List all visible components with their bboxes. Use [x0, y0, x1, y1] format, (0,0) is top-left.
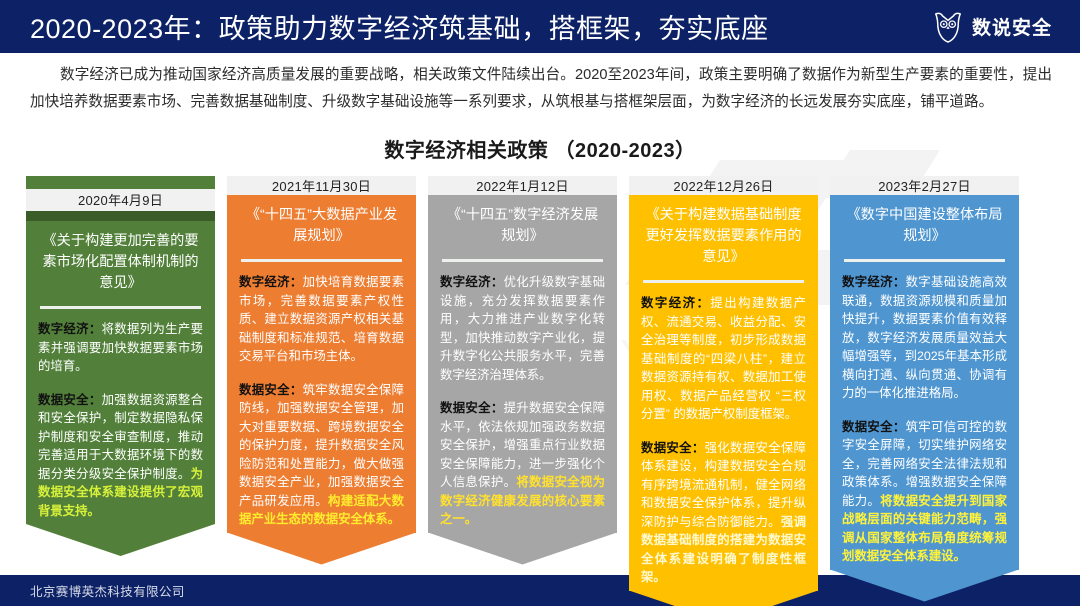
digital-economy-paragraph: 数字经济：加快培育数据要素市场，完善数据要素产权性质、建立数据资源产权相关基础制…	[239, 273, 404, 366]
column-body-inner: 《关于构建数据基础制度更好发挥数据要素作用的意见》数字经济：提出构建数据产权、流…	[629, 195, 818, 591]
column-divider	[643, 280, 804, 283]
column-divider	[442, 259, 603, 262]
column-date-band: 2021年11月30日	[227, 176, 416, 195]
column-body-inner: 《关于构建更加完善的要素市场化配置体制机制的意见》数字经济：将数据列为生产要素并…	[26, 221, 215, 524]
policy-column[interactable]: 2020年4月9日《关于构建更加完善的要素市场化配置体制机制的意见》数字经济：将…	[26, 176, 215, 556]
column-body: 《“十四五”大数据产业发展规划》数字经济：加快培育数据要素市场，完善数据要素产权…	[227, 195, 416, 565]
policy-column[interactable]: 2022年1月12日《“十四五”数字经济发展规划》数字经济：优化升级数字基础设施…	[428, 176, 617, 556]
column-date: 2020年4月9日	[78, 190, 163, 209]
digital-economy-label: 数字经济：	[38, 322, 102, 336]
data-security-text: 筑牢数据安全保障防线，加强数据安全管理，加大对重要数据、跨境数据安全的保护力度，…	[239, 383, 404, 508]
brand-logo: 数说安全	[933, 11, 1064, 43]
data-security-paragraph: 数据安全：筑牢可信可控的数字安全屏障，切实维护网络安全，完善网络安全法律法规和政…	[842, 418, 1007, 566]
header-underline	[0, 53, 1080, 55]
page-title: 2020-2023年：政策助力数字经济筑基础，搭框架，夯实底座	[30, 7, 769, 46]
column-date: 2021年11月30日	[272, 176, 371, 195]
column-divider	[40, 306, 201, 309]
column-arrow-tip	[227, 533, 416, 565]
column-date-band: 2020年4月9日	[26, 189, 215, 212]
policy-column[interactable]: 2023年2月27日《数字中国建设整体布局规划》数字经济：数字基础设施高效联通，…	[830, 176, 1019, 556]
policy-column[interactable]: 2021年11月30日《“十四五”大数据产业发展规划》数字经济：加快培育数据要素…	[227, 176, 416, 556]
policy-title: 《“十四五”数字经济发展规划》	[440, 205, 605, 247]
column-date-band: 2023年2月27日	[830, 176, 1019, 195]
data-security-paragraph: 数据安全：提升数据安全保障水平，依法依规加强政务数据安全保护，增强重点行业数据安…	[440, 399, 605, 529]
digital-economy-paragraph: 数字经济：将数据列为生产要素并强调要加快数据要素市场的培育。	[38, 320, 203, 376]
digital-economy-paragraph: 数字经济：提出构建数据产权、流通交易、收益分配、安全治理等制度，初步形成数据基础…	[641, 294, 806, 424]
data-security-label: 数据安全：	[641, 441, 705, 455]
digital-economy-label: 数字经济：	[842, 275, 906, 289]
data-security-label: 数据安全：	[842, 420, 906, 434]
column-divider	[241, 259, 402, 262]
intro-paragraph: 数字经济已成为推动国家经济高质量发展的重要战略，相关政策文件陆续出台。2020至…	[30, 62, 1052, 116]
data-security-label: 数据安全：	[440, 401, 504, 415]
column-body-inner: 《“十四五”数字经济发展规划》数字经济：优化升级数字基础设施，充分发挥数据要素作…	[428, 195, 617, 533]
column-body: 《关于构建数据基础制度更好发挥数据要素作用的意见》数字经济：提出构建数据产权、流…	[629, 195, 818, 606]
owl-icon	[933, 11, 963, 43]
column-accent-band	[26, 211, 215, 221]
digital-economy-paragraph: 数字经济：优化升级数字基础设施，充分发挥数据要素作用，大力推进产业数字化转型，加…	[440, 273, 605, 384]
data-security-paragraph: 数据安全：强化数据安全保障体系建设，构建数据安全合规有序跨境流通机制，健全网络和…	[641, 439, 806, 587]
digital-economy-label: 数字经济：	[239, 275, 303, 289]
slide-page: Y REVI 2020-2023年：政策助力数字经济筑基础，搭框架，夯实底座 数…	[0, 0, 1080, 606]
policy-title: 《“十四五”大数据产业发展规划》	[239, 205, 404, 247]
digital-economy-text: 优化升级数字基础设施，充分发挥数据要素作用，大力推进产业数字化转型，加快推动数字…	[440, 275, 605, 382]
column-body: 《数字中国建设整体布局规划》数字经济：数字基础设施高效联通，数据资源规模和质量加…	[830, 195, 1019, 602]
column-arrow-tip	[830, 570, 1019, 602]
column-arrow-tip	[26, 524, 215, 556]
digital-economy-label: 数字经济：	[440, 275, 504, 289]
column-body: 《关于构建更加完善的要素市场化配置体制机制的意见》数字经济：将数据列为生产要素并…	[26, 221, 215, 556]
brand-name: 数说安全	[972, 13, 1052, 40]
column-date-band: 2022年1月12日	[428, 176, 617, 195]
digital-economy-paragraph: 数字经济：数字基础设施高效联通，数据资源规模和质量加快提升，数据要素价值有效释放…	[842, 273, 1007, 403]
digital-economy-label: 数字经济：	[641, 296, 710, 310]
data-security-paragraph: 数据安全：筑牢数据安全保障防线，加强数据安全管理，加大对重要数据、跨境数据安全的…	[239, 381, 404, 529]
column-date: 2023年2月27日	[878, 176, 971, 195]
column-top-band	[26, 176, 215, 189]
column-date: 2022年1月12日	[476, 176, 569, 195]
column-divider	[844, 259, 1005, 262]
policy-title: 《关于构建数据基础制度更好发挥数据要素作用的意见》	[641, 205, 806, 268]
data-security-label: 数据安全：	[38, 393, 102, 407]
column-arrow-tip	[629, 591, 818, 606]
data-security-label: 数据安全：	[239, 383, 303, 397]
header-bar: 2020-2023年：政策助力数字经济筑基础，搭框架，夯实底座 数说安全	[0, 0, 1080, 53]
column-body-inner: 《“十四五”大数据产业发展规划》数字经济：加快培育数据要素市场，完善数据要素产权…	[227, 195, 416, 533]
footer-company: 北京赛博英杰科技有限公司	[30, 581, 185, 600]
policy-columns: 2020年4月9日《关于构建更加完善的要素市场化配置体制机制的意见》数字经济：将…	[0, 176, 1080, 556]
digital-economy-text: 提出构建数据产权、流通交易、收益分配、安全治理等制度，初步形成数据基础制度的“四…	[641, 296, 806, 421]
column-body: 《“十四五”数字经济发展规划》数字经济：优化升级数字基础设施，充分发挥数据要素作…	[428, 195, 617, 565]
data-security-paragraph: 数据安全：加强数据资源整合和安全保护，制定数据隐私保护制度和安全审查制度，推动完…	[38, 391, 203, 521]
policy-title: 《数字中国建设整体布局规划》	[842, 205, 1007, 247]
section-title: 数字经济相关政策 （2020-2023）	[0, 134, 1080, 163]
column-body-inner: 《数字中国建设整体布局规划》数字经济：数字基础设施高效联通，数据资源规模和质量加…	[830, 195, 1019, 570]
column-arrow-tip	[428, 533, 617, 565]
column-date: 2022年12月26日	[673, 176, 773, 195]
policy-title: 《关于构建更加完善的要素市场化配置体制机制的意见》	[38, 231, 203, 294]
digital-economy-text: 数字基础设施高效联通，数据资源规模和质量加快提升，数据要素价值有效释放，数字经济…	[842, 275, 1007, 400]
column-date-band: 2022年12月26日	[629, 176, 818, 195]
policy-column[interactable]: 2022年12月26日《关于构建数据基础制度更好发挥数据要素作用的意见》数字经济…	[629, 176, 818, 556]
